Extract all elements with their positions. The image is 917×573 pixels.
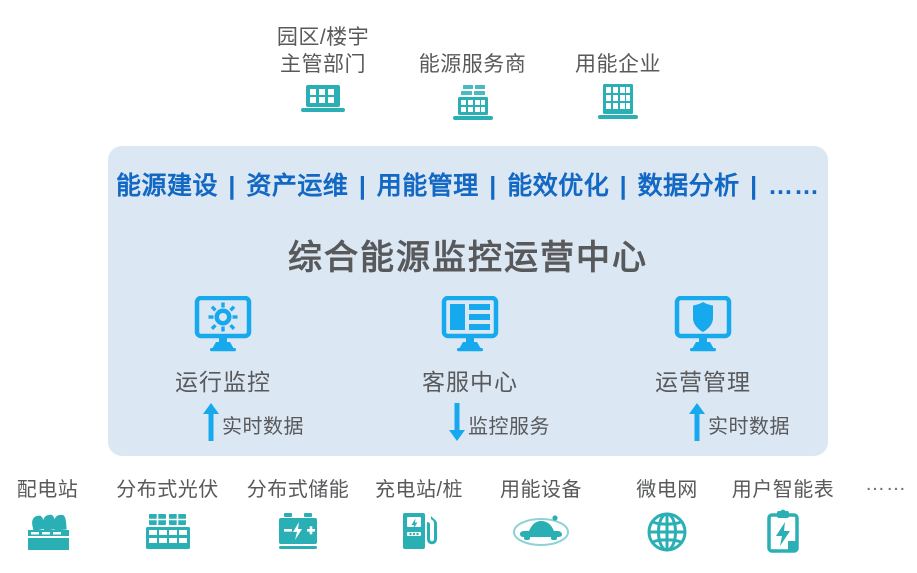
monitor-gear-icon — [192, 296, 254, 357]
banner-item-2: 用能管理 — [377, 172, 479, 200]
functions-row: 运行监控 客服中心 — [108, 296, 828, 396]
operations-center-panel: 能源建设 | 资产运维 | 用能管理 | 能效优化 | 数据分析 | …… 综合… — [108, 146, 828, 456]
asset-label: …… — [865, 473, 907, 496]
banner-item-4: 数据分析 — [638, 172, 740, 200]
asset-label: 用能设备 — [500, 473, 582, 502]
arrow-up-icon — [202, 402, 220, 447]
electric-car-icon — [510, 508, 572, 554]
asset-smart-meter: 用户智能表 — [718, 473, 848, 556]
arrow-down-icon — [448, 402, 466, 447]
flow-monitoring-service: 监控服务 — [448, 402, 550, 447]
monitor-shield-icon — [672, 296, 734, 357]
smart-meter-clipboard-icon — [761, 508, 805, 556]
asset-label: 用户智能表 — [732, 473, 835, 502]
flow-label: 实时数据 — [222, 410, 304, 439]
stakeholder-energy-consuming-enterprise: 用能企业 — [558, 51, 678, 122]
asset-label: 分布式光伏 — [116, 473, 219, 502]
asset-microgrid: 微电网 — [612, 473, 722, 556]
flow-realtime-data-left: 实时数据 — [202, 402, 304, 447]
flow-label: 实时数据 — [708, 410, 790, 439]
asset-charging-station: 充电站/桩 — [360, 473, 478, 556]
solar-array-icon — [141, 508, 195, 556]
banner-item-0: 能源建设 — [116, 172, 218, 200]
asset-label: 微电网 — [636, 473, 698, 502]
asset-more-ellipsis: …… — [855, 473, 917, 496]
solar-roof-building-icon — [450, 82, 496, 124]
banner-separator: | — [617, 172, 631, 200]
banner-separator: | — [747, 172, 761, 200]
charging-pump-icon — [396, 508, 442, 556]
diagram-canvas: 园区/楼宇 主管部门 能源服务商 — [0, 0, 917, 573]
banner-ellipsis: …… — [768, 172, 820, 200]
asset-label: 充电站/桩 — [375, 473, 463, 502]
panel-title: 综合能源监控运营中心 — [108, 230, 828, 279]
function-customer-service-center[interactable]: 客服中心 — [380, 296, 560, 397]
asset-energy-consuming-equipment: 用能设备 — [482, 473, 600, 554]
assets-row: 配电站 — [0, 473, 917, 573]
function-label: 运行监控 — [175, 363, 271, 397]
banner-item-1: 资产运维 — [246, 172, 348, 200]
stakeholder-label: 能源服务商 — [419, 51, 527, 78]
battery-icon — [273, 508, 323, 556]
office-building-icon — [596, 82, 640, 122]
stakeholder-label: 园区/楼宇 主管部门 — [277, 24, 369, 78]
function-operation-monitoring[interactable]: 运行监控 — [133, 296, 313, 397]
asset-label: 配电站 — [17, 473, 79, 502]
capability-banner: 能源建设 | 资产运维 | 用能管理 | 能效优化 | 数据分析 | …… — [108, 166, 828, 202]
function-label: 运营管理 — [655, 363, 751, 397]
function-operations-management[interactable]: 运营管理 — [613, 296, 793, 397]
banner-separator: | — [225, 172, 239, 200]
arrow-up-icon — [688, 402, 706, 447]
asset-distributed-pv: 分布式光伏 — [100, 473, 235, 556]
stakeholder-label: 用能企业 — [575, 51, 661, 78]
banner-separator: | — [356, 172, 370, 200]
stakeholder-energy-service-provider: 能源服务商 — [405, 51, 540, 124]
flows-row: 实时数据 监控服务 实时数据 — [108, 402, 828, 450]
substation-icon — [22, 508, 74, 556]
stakeholders-row: 园区/楼宇 主管部门 能源服务商 — [240, 24, 680, 134]
function-label: 客服中心 — [422, 363, 518, 397]
wide-building-icon — [300, 82, 346, 116]
flow-label: 监控服务 — [468, 410, 550, 439]
globe-grid-icon — [643, 508, 691, 556]
banner-item-3: 能效优化 — [507, 172, 609, 200]
flow-realtime-data-right: 实时数据 — [688, 402, 790, 447]
banner-separator: | — [486, 172, 500, 200]
monitor-dashboard-icon — [439, 296, 501, 357]
stakeholder-park-building-authority: 园区/楼宇 主管部门 — [258, 24, 388, 116]
asset-distribution-substation: 配电站 — [0, 473, 95, 556]
asset-label: 分布式储能 — [247, 473, 350, 502]
asset-distributed-storage: 分布式储能 — [238, 473, 358, 556]
